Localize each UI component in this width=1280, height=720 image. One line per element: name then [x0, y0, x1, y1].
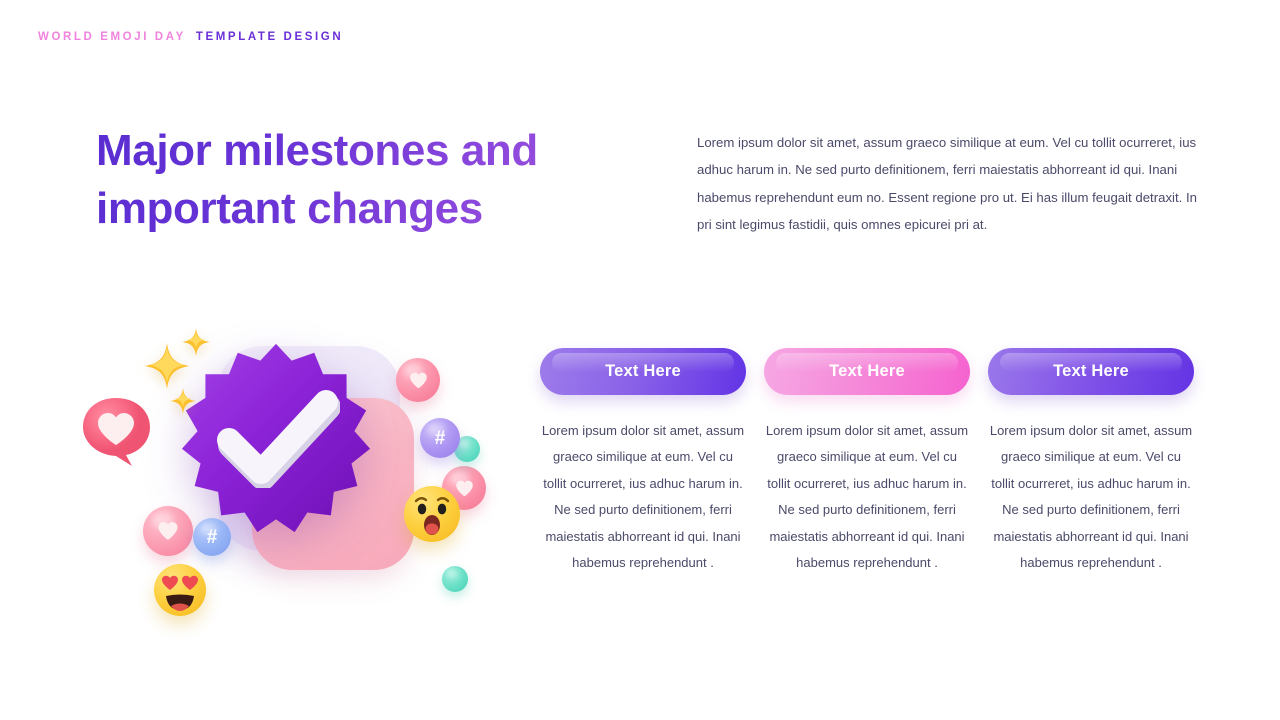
intro-paragraph: Lorem ipsum dolor sit amet, assum graeco…	[697, 129, 1209, 239]
hashtag-icon: #	[420, 418, 460, 458]
sparkle-icon	[182, 328, 210, 356]
heart-speech-bubble-icon	[80, 396, 156, 468]
heart-reaction-icon	[396, 358, 440, 402]
feature-column-1: Text Here Lorem ipsum dolor sit amet, as…	[540, 348, 746, 576]
text-here-button-1[interactable]: Text Here	[540, 348, 746, 395]
emoji-illustration: # #	[70, 318, 520, 628]
sparkle-icon	[170, 388, 196, 414]
brand-secondary-label: TEMPLATE DESIGN	[196, 31, 343, 43]
feature-column-1-body: Lorem ipsum dolor sit amet, assum graeco…	[540, 418, 746, 576]
feature-column-3: Text Here Lorem ipsum dolor sit amet, as…	[988, 348, 1194, 576]
checkmark-icon	[215, 388, 340, 488]
heart-reaction-icon	[143, 506, 193, 556]
wow-face-emoji	[404, 486, 460, 542]
feature-column-3-body: Lorem ipsum dolor sit amet, assum graeco…	[988, 418, 1194, 576]
text-here-button-3[interactable]: Text Here	[988, 348, 1194, 395]
hashtag-glyph: #	[435, 429, 446, 448]
hashtag-icon: #	[193, 518, 231, 556]
brand-eyebrow: WORLD EMOJI DAYTEMPLATE DESIGN	[38, 31, 343, 43]
hashtag-glyph: #	[207, 528, 218, 547]
heart-eyes-emoji	[154, 564, 206, 616]
text-here-button-2[interactable]: Text Here	[764, 348, 970, 395]
feature-column-2-body: Lorem ipsum dolor sit amet, assum graeco…	[764, 418, 970, 576]
teal-dot-icon	[442, 566, 468, 592]
slide-canvas: WORLD EMOJI DAYTEMPLATE DESIGN Major mil…	[0, 0, 1280, 720]
brand-primary-label: WORLD EMOJI DAY	[38, 31, 186, 43]
feature-columns: Text Here Lorem ipsum dolor sit amet, as…	[540, 348, 1220, 576]
page-title: Major milestones and important changes	[96, 122, 696, 238]
feature-column-2: Text Here Lorem ipsum dolor sit amet, as…	[764, 348, 970, 576]
